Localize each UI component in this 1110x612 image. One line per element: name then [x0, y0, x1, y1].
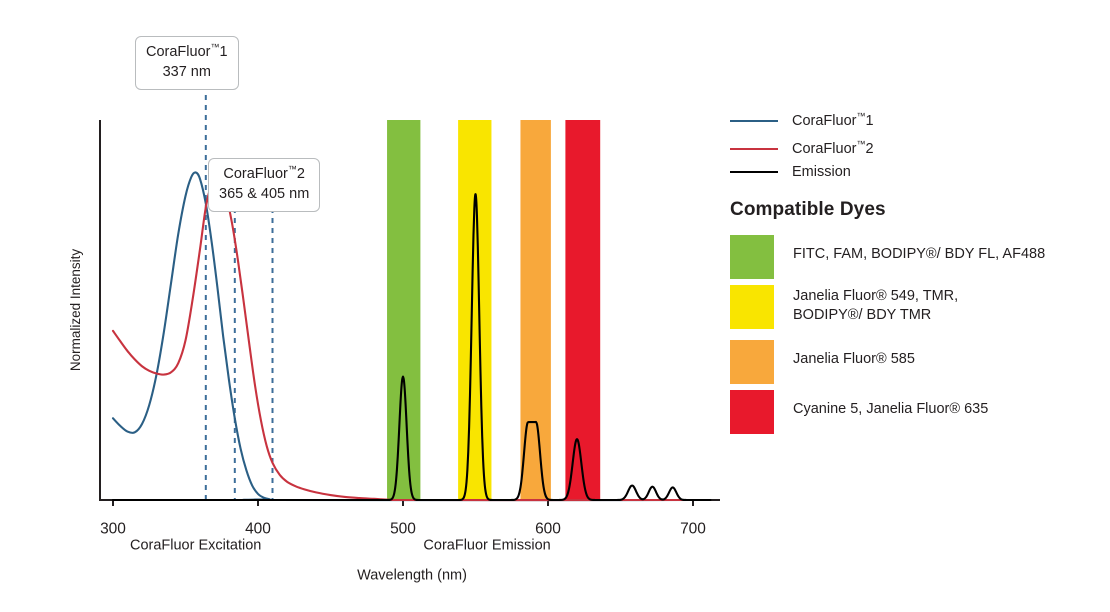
legend-line-swatch	[730, 148, 778, 150]
callout-corafluor2-line2: 365 & 405 nm	[219, 185, 309, 205]
x-tick-label-700: 700	[680, 520, 706, 537]
x-tick-label-400: 400	[245, 520, 271, 537]
x-tick-label-600: 600	[535, 520, 561, 537]
legend-label: Emission	[792, 164, 851, 180]
callout-corafluor2: CoraFluor™2 365 & 405 nm	[208, 158, 320, 212]
legend-entry-0[interactable]: CoraFluor™1	[730, 113, 874, 129]
dye-entry-0[interactable]: FITC, FAM, BODIPY®/ BDY FL, AF488	[730, 235, 1045, 279]
dye-entry-2[interactable]: Janelia Fluor® 585	[730, 340, 915, 384]
callout-corafluor2-line1: CoraFluor™2	[219, 165, 309, 185]
dye-color-swatch	[730, 285, 774, 329]
dye-entry-3[interactable]: Cyanine 5, Janelia Fluor® 635	[730, 390, 988, 434]
compatible-dyes-heading: Compatible Dyes	[730, 199, 886, 221]
emission-band-1	[458, 120, 491, 500]
dye-label: FITC, FAM, BODIPY®/ BDY FL, AF488	[793, 235, 1045, 264]
legend-label: CoraFluor™1	[792, 113, 874, 129]
callout-corafluor1-line1: CoraFluor™1	[146, 43, 228, 63]
emission-range-label: CoraFluor Emission	[423, 538, 550, 554]
legend-line-swatch	[730, 171, 778, 173]
legend-panel: CoraFluor™1CoraFluor™2Emission Compatibl…	[730, 0, 1110, 612]
x-tick-label-500: 500	[390, 520, 416, 537]
callout-corafluor1-line2: 337 nm	[146, 63, 228, 83]
dye-label: Janelia Fluor® 585	[793, 340, 915, 369]
legend-label: CoraFluor™2	[792, 141, 874, 157]
callout-corafluor1: CoraFluor™1 337 nm	[135, 36, 239, 90]
dye-color-swatch	[730, 235, 774, 279]
plot-area: 300400500600700CoraFluor ExcitationCoraF…	[0, 0, 730, 612]
dye-label: Janelia Fluor® 549, TMR, BODIPY®/ BDY TM…	[793, 285, 958, 326]
spectra-figure: 300400500600700CoraFluor ExcitationCoraF…	[0, 0, 1110, 612]
legend-entry-2[interactable]: Emission	[730, 164, 851, 180]
y-axis-title: Normalized Intensity	[68, 249, 83, 372]
dye-label: Cyanine 5, Janelia Fluor® 635	[793, 390, 988, 419]
legend-entry-1[interactable]: CoraFluor™2	[730, 141, 874, 157]
dye-color-swatch	[730, 390, 774, 434]
legend-line-swatch	[730, 120, 778, 122]
excitation-range-label: CoraFluor Excitation	[130, 538, 261, 554]
spectra-chart: 300400500600700CoraFluor ExcitationCoraF…	[0, 0, 730, 612]
dye-entry-1[interactable]: Janelia Fluor® 549, TMR, BODIPY®/ BDY TM…	[730, 285, 958, 329]
dye-color-swatch	[730, 340, 774, 384]
emission-band-3	[565, 120, 600, 500]
emission-band-0	[387, 120, 420, 500]
x-axis-title: Wavelength (nm)	[357, 568, 467, 584]
x-tick-label-300: 300	[100, 520, 126, 537]
